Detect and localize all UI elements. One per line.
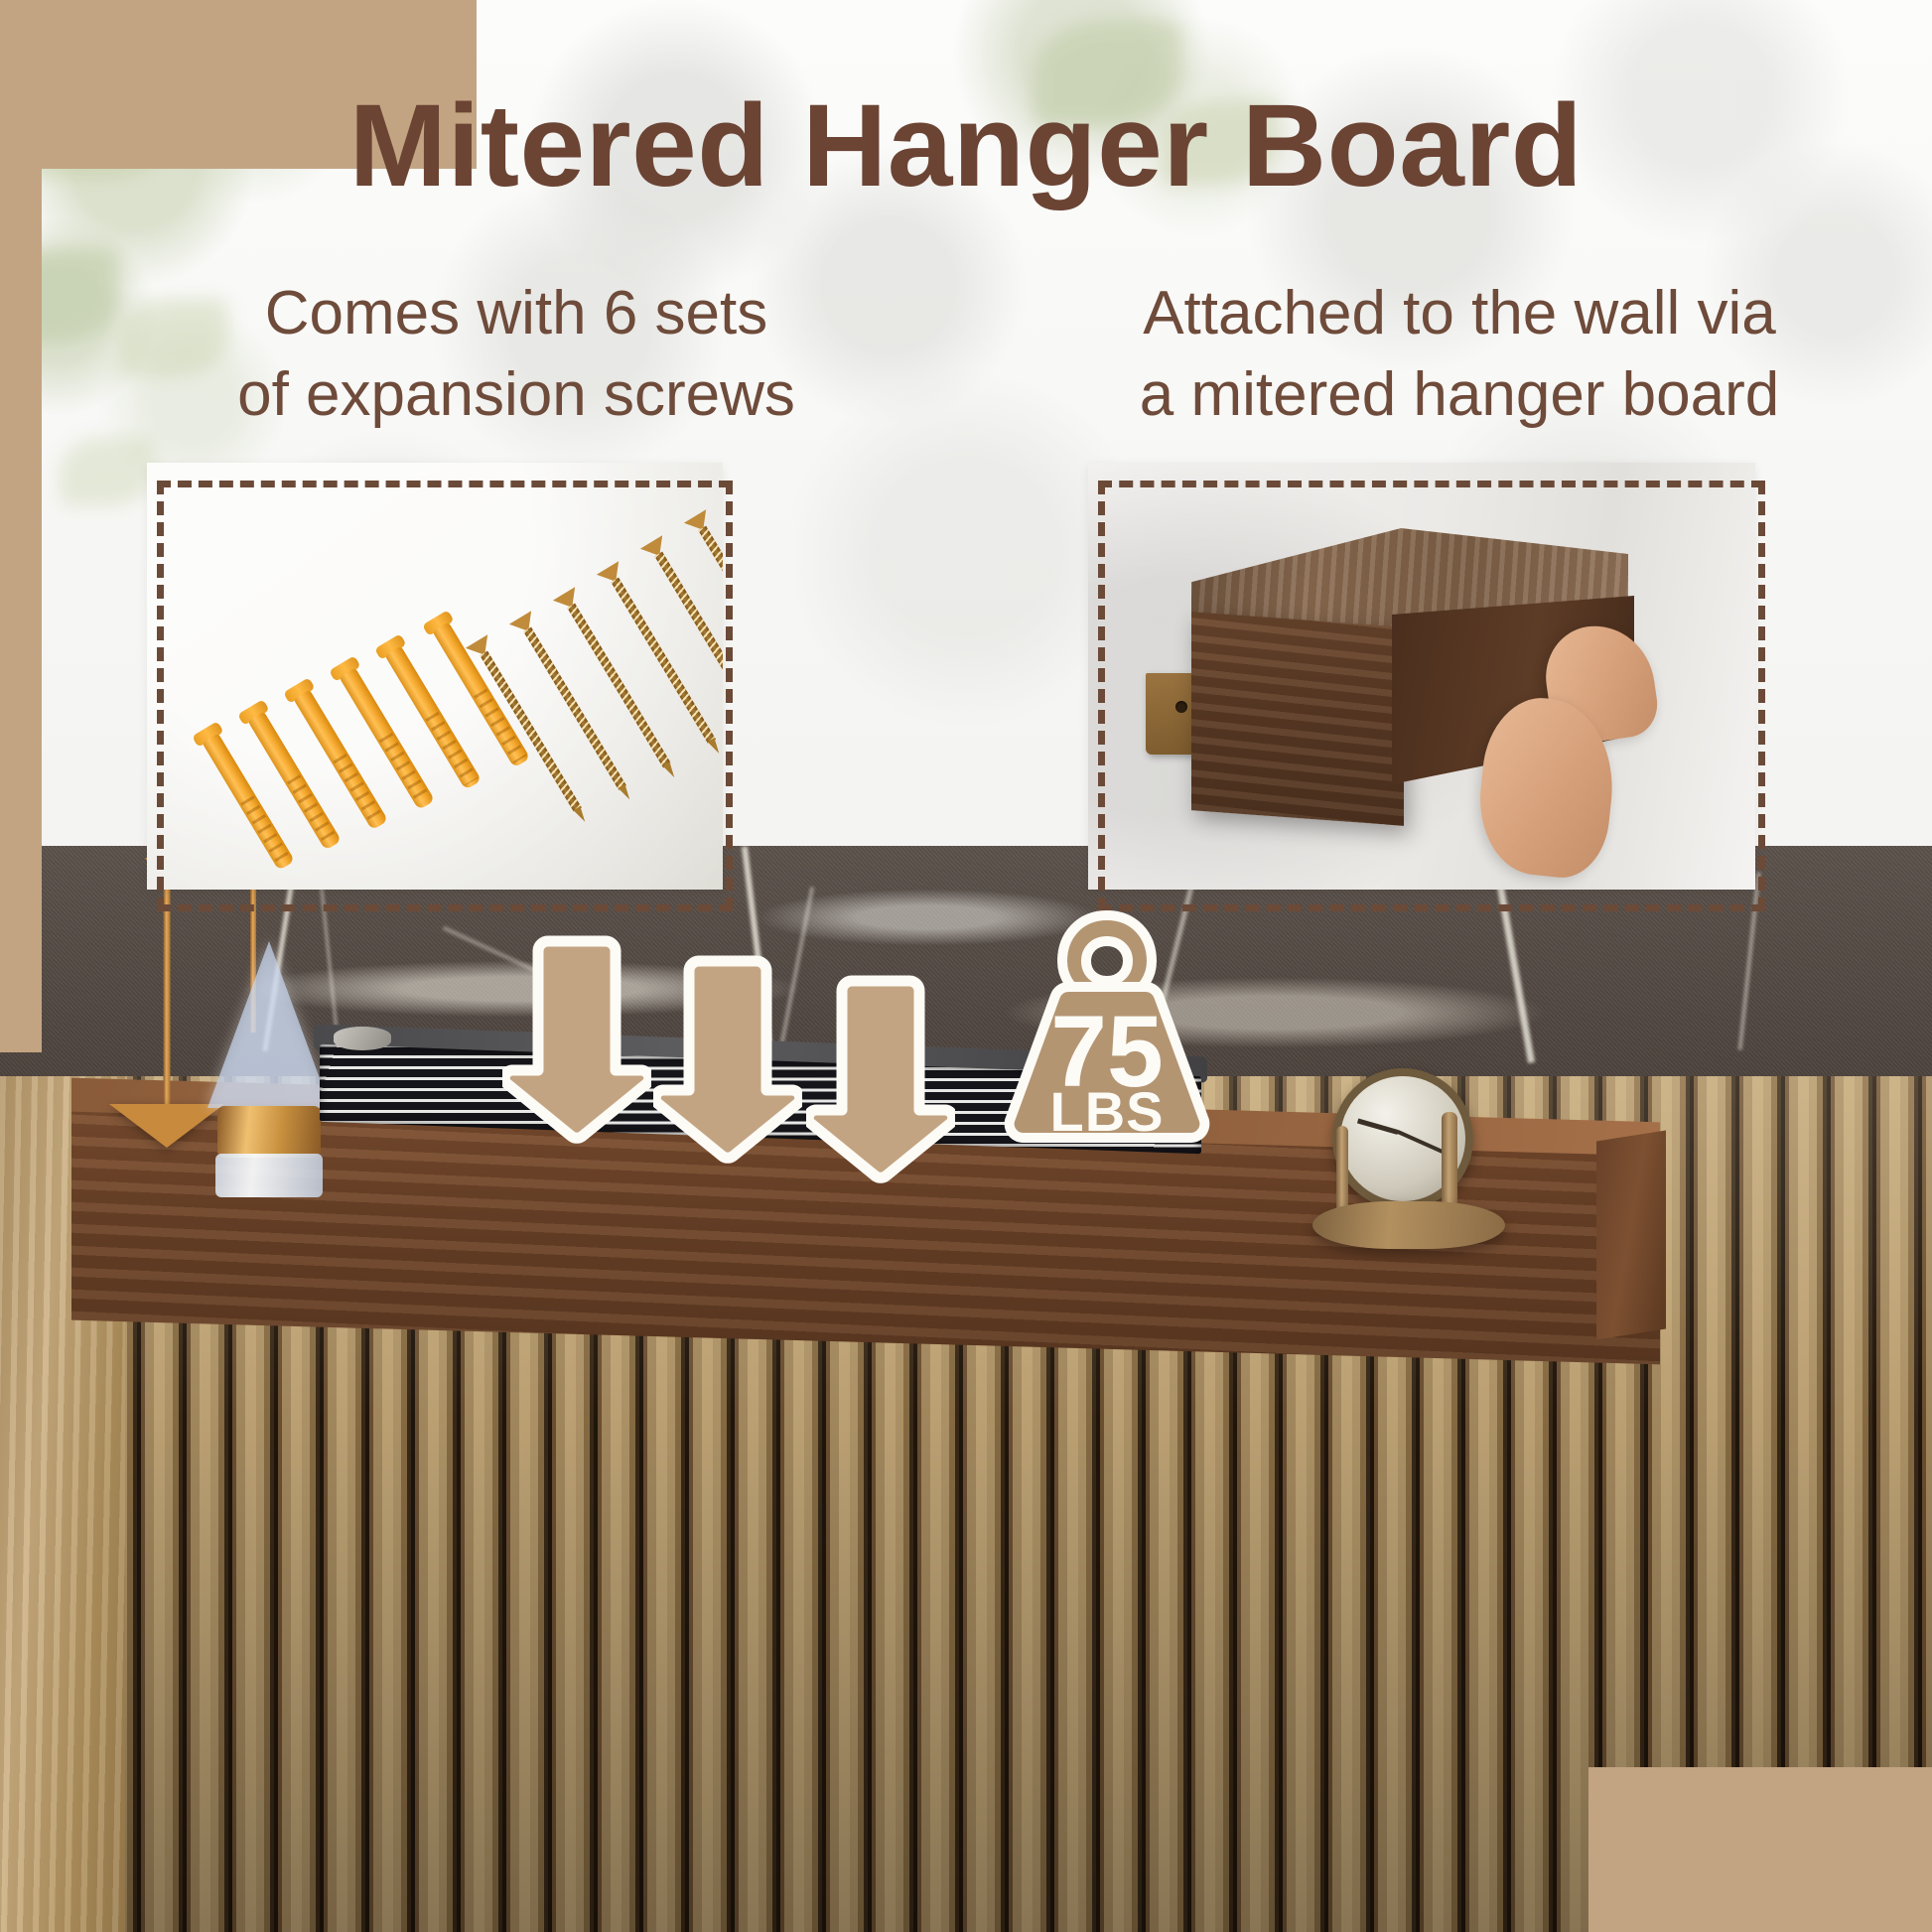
- down-arrow-icon: [502, 931, 651, 1148]
- dashed-frame-left: [157, 481, 733, 911]
- leaf-bokeh-6: [60, 437, 155, 506]
- feature-caption-expansion-screws: Comes with 6 sets of expansion screws: [119, 273, 913, 436]
- clock-stand: [1312, 1201, 1505, 1249]
- feature-caption-line1: Comes with 6 sets: [119, 273, 913, 354]
- dashed-frame-right: [1098, 481, 1765, 911]
- infographic-canvas: Mitered Hanger Board Comes with 6 sets o…: [0, 0, 1932, 1932]
- corner-accent-bottom-right: [1588, 1767, 1932, 1932]
- down-arrow-icon: [806, 971, 955, 1187]
- desk-clock: [1311, 1068, 1519, 1257]
- feature-caption-line2: of expansion screws: [119, 354, 913, 436]
- weight-unit: LBS: [983, 1084, 1231, 1140]
- feature-caption-hanger-board: Attached to the wall via a mitered hange…: [1023, 273, 1896, 436]
- feature-caption-line1: Attached to the wall via: [1023, 273, 1896, 354]
- page-title: Mitered Hanger Board: [0, 87, 1932, 205]
- weight-capacity-badge: 75 LBS: [983, 901, 1231, 1154]
- feature-caption-line2: a mitered hanger board: [1023, 354, 1896, 436]
- down-arrow-icon: [653, 951, 802, 1168]
- soundbar-knob: [334, 1027, 391, 1050]
